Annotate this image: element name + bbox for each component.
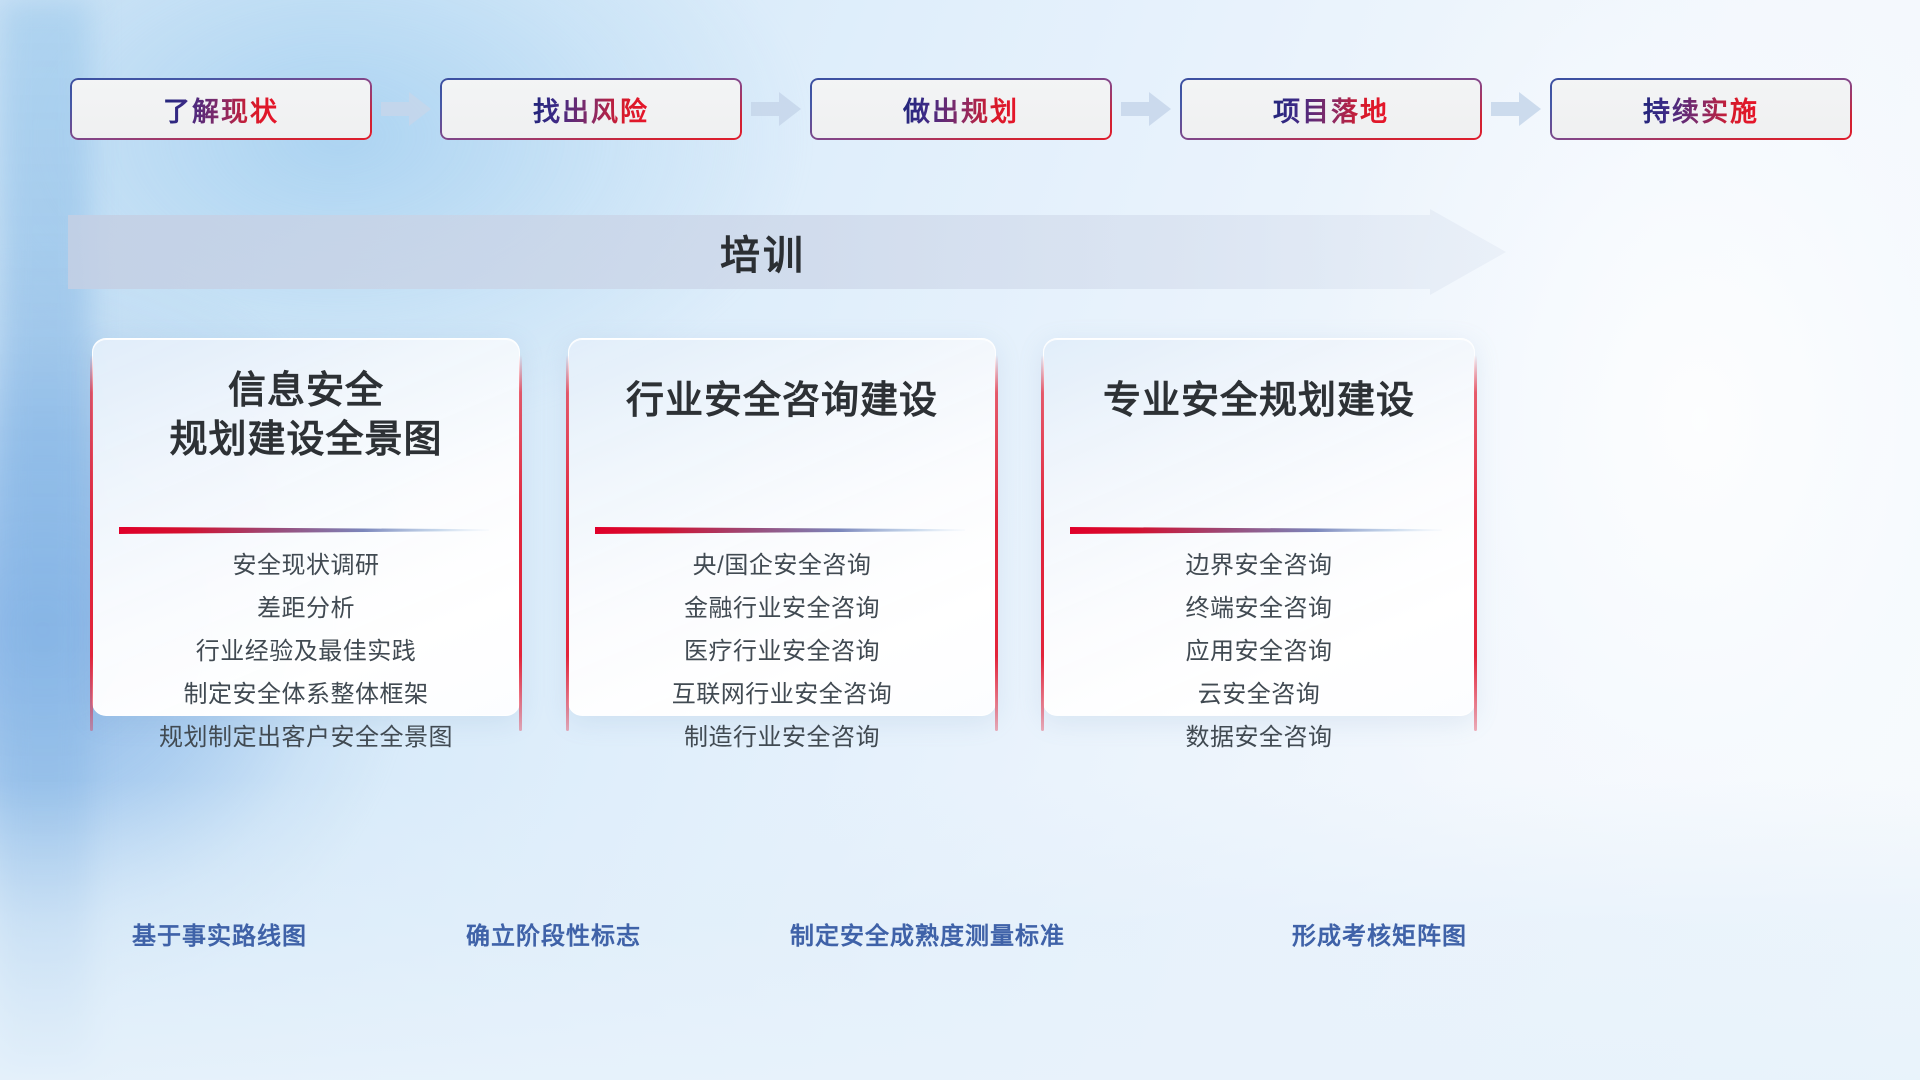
process-step-3[interactable]: 做出规划: [810, 78, 1112, 140]
card-right-accent-bar: [519, 355, 522, 731]
card3-title-line1: 专业安全规划建设: [1044, 377, 1474, 426]
process-step-2[interactable]: 找出风险: [440, 78, 742, 140]
card-right-accent-bar: [1474, 355, 1477, 731]
training-banner-title: 培训: [68, 209, 1458, 295]
process-step-1[interactable]: 了解现状: [70, 78, 372, 140]
process-step-row: 了解现状 找出风险 做出规划 项目落地: [70, 78, 1860, 140]
card1-title-line2: 规划建设全景图: [93, 416, 519, 465]
card1-title-line1: 信息安全: [93, 367, 519, 416]
card-professional-security-planning[interactable]: 专业安全规划建设 边界安全咨询 终端安全咨询: [1043, 338, 1475, 716]
bottom-label-assessment-matrix: 形成考核矩阵图: [1292, 916, 1467, 950]
card2-title: 行业安全咨询建设: [569, 377, 995, 426]
card1-list-item: 制定安全体系整体框架: [93, 683, 519, 707]
step-arrow-icon-2: [742, 78, 810, 140]
card2-list-item: 互联网行业安全咨询: [569, 683, 995, 707]
card2-item-list: 央/国企安全咨询 金融行业安全咨询 医疗行业安全咨询 互联网行业安全咨询 制造行…: [569, 554, 995, 750]
bottom-label-roadmap: 基于事实路线图: [132, 916, 307, 950]
process-step-2-label: 找出风险: [533, 90, 649, 129]
card1-list-item: 安全现状调研: [93, 554, 519, 578]
card3-list-item: 云安全咨询: [1044, 683, 1474, 707]
card3-divider: [1070, 523, 1442, 535]
card2-title-line1: 行业安全咨询建设: [569, 377, 995, 426]
step-arrow-icon-1: [372, 78, 440, 140]
card1-item-list: 安全现状调研 差距分析 行业经验及最佳实践 制定安全体系整体框架 规划制定出客户…: [93, 554, 519, 750]
card-industry-security-consulting[interactable]: 行业安全咨询建设 央/国企安全咨询 金融行业安全咨: [568, 338, 996, 716]
card1-list-item: 规划制定出客户安全全景图: [93, 726, 519, 750]
card3-title: 专业安全规划建设: [1044, 377, 1474, 426]
card2-list-item: 医疗行业安全咨询: [569, 640, 995, 664]
process-step-4[interactable]: 项目落地: [1180, 78, 1482, 140]
card3-list-item: 应用安全咨询: [1044, 640, 1474, 664]
card2-list-item: 央/国企安全咨询: [569, 554, 995, 578]
card2-list-item: 制造行业安全咨询: [569, 726, 995, 750]
card-information-security-blueprint[interactable]: 信息安全 规划建设全景图 安全现状调研: [92, 338, 520, 716]
bottom-label-maturity-standard: 制定安全成熟度测量标准: [790, 916, 1065, 950]
card1-list-item: 差距分析: [93, 597, 519, 621]
step-arrow-icon-3: [1112, 78, 1180, 140]
process-step-1-label: 了解现状: [163, 90, 279, 129]
card2-divider: [595, 523, 965, 535]
card2-list-item: 金融行业安全咨询: [569, 597, 995, 621]
card-right-accent-bar: [995, 355, 998, 731]
card1-title: 信息安全 规划建设全景图: [93, 367, 519, 464]
step-arrow-icon-4: [1482, 78, 1550, 140]
card3-list-item: 终端安全咨询: [1044, 597, 1474, 621]
process-step-4-label: 项目落地: [1273, 90, 1389, 129]
process-step-5[interactable]: 持续实施: [1550, 78, 1852, 140]
card1-list-item: 行业经验及最佳实践: [93, 640, 519, 664]
bottom-label-milestones: 确立阶段性标志: [466, 916, 641, 950]
card1-divider: [119, 523, 489, 535]
card3-list-item: 边界安全咨询: [1044, 554, 1474, 578]
process-step-5-label: 持续实施: [1643, 90, 1759, 129]
card3-list-item: 数据安全咨询: [1044, 726, 1474, 750]
process-step-3-label: 做出规划: [903, 90, 1019, 129]
card3-item-list: 边界安全咨询 终端安全咨询 应用安全咨询 云安全咨询 数据安全咨询: [1044, 554, 1474, 750]
training-banner: 培训: [68, 209, 1506, 295]
